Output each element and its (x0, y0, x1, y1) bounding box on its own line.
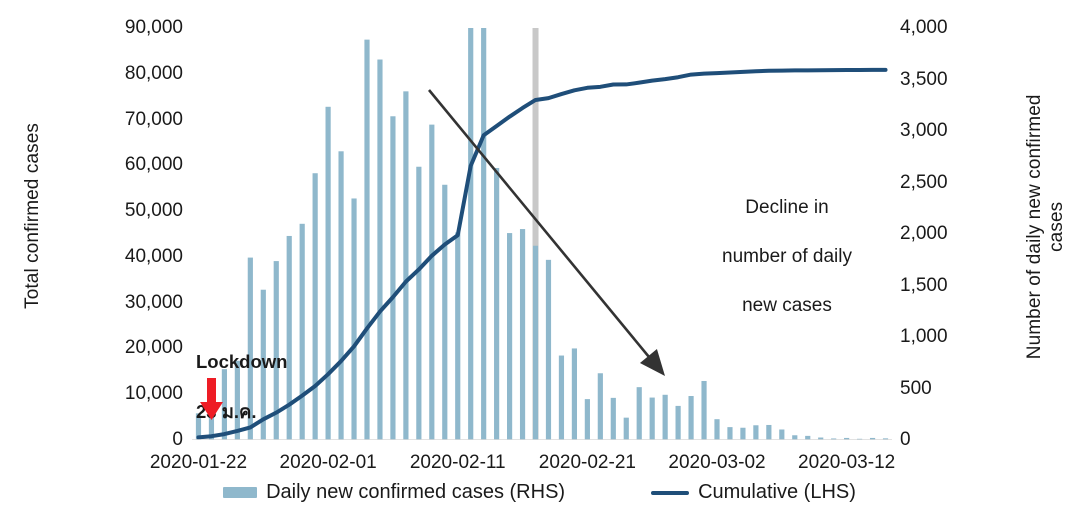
decline-annotation-line3: new cases (695, 294, 879, 318)
decline-annotation-line1: Decline in (695, 196, 879, 220)
x-tick-label: 2020-02-21 (539, 452, 636, 474)
decline-annotation: Decline in number of daily new cases (695, 172, 879, 342)
bar (481, 28, 486, 440)
bar (572, 348, 577, 440)
chart-container: Total confirmed cases Number of daily ne… (0, 0, 1079, 517)
bar (663, 395, 668, 440)
bar (753, 425, 758, 440)
x-tick-label: 2020-02-11 (410, 452, 506, 474)
chart-legend: Daily new confirmed cases (RHS)Cumulativ… (0, 481, 1079, 504)
bar (611, 398, 616, 440)
legend-line-swatch (651, 491, 689, 495)
bar (740, 428, 745, 440)
x-tick-label: 2020-03-12 (798, 452, 895, 474)
bar (300, 224, 305, 440)
bar (585, 399, 590, 440)
bar (714, 419, 719, 440)
lockdown-arrow-icon (197, 378, 231, 424)
bar (533, 246, 538, 440)
x-tick-label: 2020-01-22 (150, 452, 247, 474)
bar (494, 168, 499, 440)
decline-annotation-line2: number of daily (695, 245, 879, 269)
bar (688, 396, 693, 440)
bar (390, 116, 395, 440)
legend-bar-swatch (223, 487, 257, 498)
bar (559, 356, 564, 440)
bar (364, 40, 369, 440)
bar (624, 418, 629, 440)
bar (507, 233, 512, 440)
bar (338, 151, 343, 440)
x-tick-label: 2020-03-02 (668, 452, 765, 474)
bar (442, 185, 447, 440)
bar (676, 406, 681, 440)
bar (377, 60, 382, 440)
legend-item[interactable]: Daily new confirmed cases (RHS) (223, 481, 565, 504)
bar (598, 373, 603, 440)
lockdown-arrow-head (200, 402, 223, 420)
bar (650, 398, 655, 440)
bar (520, 229, 525, 440)
bar (637, 387, 642, 440)
bar (455, 232, 460, 440)
bar (326, 107, 331, 440)
bar (468, 28, 473, 440)
x-tick-label: 2020-02-01 (280, 452, 377, 474)
bar (313, 173, 318, 440)
bar (429, 125, 434, 440)
lockdown-annotation-line1: Lockdown (196, 350, 287, 375)
lockdown-arrow-shaft (207, 378, 216, 404)
decline-arrow-shaft (429, 90, 649, 357)
legend-item-label: Daily new confirmed cases (RHS) (266, 481, 565, 504)
decline-arrow-icon (429, 90, 673, 383)
bar (403, 91, 408, 440)
bar (766, 425, 771, 440)
legend-item-label: Cumulative (LHS) (698, 481, 856, 504)
bar (416, 167, 421, 440)
bar (701, 381, 706, 440)
bar (727, 427, 732, 440)
bar (546, 260, 551, 440)
bar (779, 429, 784, 440)
legend-item[interactable]: Cumulative (LHS) (651, 481, 856, 504)
bar (351, 198, 356, 440)
